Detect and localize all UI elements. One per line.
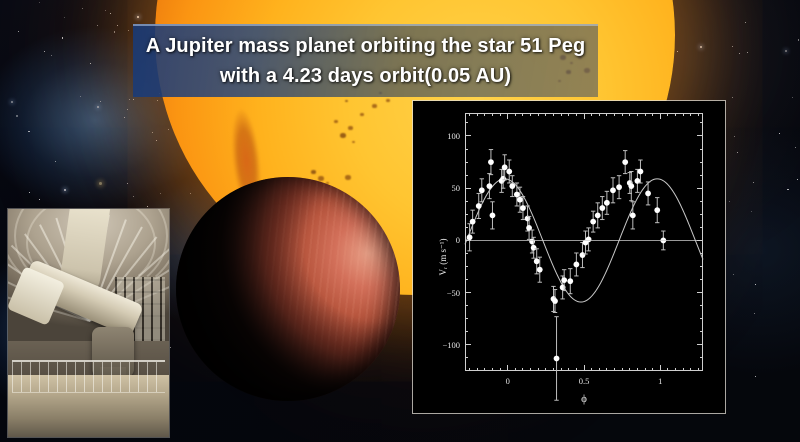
chart-x-minor-tick <box>530 368 531 371</box>
observatory-telescope-photo <box>8 209 169 437</box>
chart-data-point <box>573 253 579 276</box>
chart-y-tick <box>697 135 703 136</box>
chart-data-point <box>595 203 601 228</box>
chart-x-minor-tick <box>637 113 638 116</box>
chart-x-minor-tick <box>614 368 615 371</box>
chart-data-point <box>487 174 493 199</box>
chart-y-minor-tick <box>465 266 468 267</box>
chart-x-minor-tick <box>622 368 623 371</box>
chart-x-minor-tick <box>515 368 516 371</box>
chart-y-tick <box>697 188 703 189</box>
chart-y-tick-label: 0 <box>456 235 460 245</box>
chart-x-minor-tick <box>629 368 630 371</box>
chart-y-minor-tick <box>465 149 468 150</box>
chart-x-minor-tick <box>622 113 623 116</box>
chart-y-minor-tick <box>465 122 468 123</box>
radial-velocity-chart-panel: Vᵣ (m s⁻¹) ϕ 100500−50−10000.51 <box>413 101 725 413</box>
chart-x-minor-tick <box>652 368 653 371</box>
chart-x-minor-tick <box>683 113 684 116</box>
chart-x-minor-tick <box>561 368 562 371</box>
chart-y-minor-tick <box>465 318 468 319</box>
chart-data-point <box>490 202 496 229</box>
chart-x-minor-tick <box>614 113 615 116</box>
chart-x-minor-tick <box>484 368 485 371</box>
chart-x-minor-tick <box>492 368 493 371</box>
chart-data-point <box>630 202 636 229</box>
chart-x-minor-tick <box>652 113 653 116</box>
chart-x-minor-tick <box>591 368 592 371</box>
chart-data-point <box>604 191 610 214</box>
chart-x-minor-tick <box>538 368 539 371</box>
chart-y-tick <box>465 240 471 241</box>
chart-x-minor-tick <box>599 113 600 116</box>
chart-x-minor-tick <box>645 113 646 116</box>
chart-y-minor-tick <box>700 149 703 150</box>
chart-data-point <box>488 150 494 175</box>
chart-x-minor-tick <box>538 113 539 116</box>
chart-x-minor-tick <box>637 368 638 371</box>
chart-data-point <box>616 176 622 199</box>
starspot <box>340 133 346 138</box>
chart-y-tick-label: 50 <box>452 183 461 193</box>
chart-y-minor-tick <box>700 331 703 332</box>
chart-x-minor-tick <box>690 113 691 116</box>
chart-x-minor-tick <box>530 113 531 116</box>
chart-x-tick <box>584 365 585 371</box>
chart-x-minor-tick <box>576 368 577 371</box>
chart-data-point <box>622 151 628 174</box>
chart-y-minor-tick <box>465 305 468 306</box>
chart-y-tick <box>465 135 471 136</box>
chart-data-layer <box>465 113 703 371</box>
starspot <box>372 104 377 108</box>
chart-x-minor-tick <box>599 368 600 371</box>
chart-x-minor-tick <box>568 113 569 116</box>
chart-x-minor-tick <box>500 113 501 116</box>
chart-x-tick <box>507 113 508 119</box>
chart-y-minor-tick <box>465 253 468 254</box>
chart-data-point <box>654 198 660 223</box>
chart-y-minor-tick <box>700 253 703 254</box>
chart-y-minor-tick <box>465 175 468 176</box>
chart-x-axis-label: ϕ <box>465 393 703 405</box>
chart-y-tick-label: 100 <box>447 131 460 141</box>
chart-x-minor-tick <box>568 368 569 371</box>
chart-data-point <box>628 171 634 200</box>
chart-zero-line <box>465 240 703 241</box>
chart-x-minor-tick <box>683 368 684 371</box>
chart-y-minor-tick <box>465 357 468 358</box>
chart-y-minor-tick <box>700 279 703 280</box>
chart-x-minor-tick <box>667 368 668 371</box>
chart-data-point <box>567 269 573 294</box>
chart-y-minor-tick <box>465 214 468 215</box>
chart-x-minor-tick <box>561 113 562 116</box>
chart-y-minor-tick <box>700 201 703 202</box>
chart-x-minor-tick <box>500 368 501 371</box>
chart-y-minor-tick <box>465 201 468 202</box>
chart-x-minor-tick <box>553 368 554 371</box>
chart-x-minor-tick <box>553 113 554 116</box>
chart-y-minor-tick <box>465 279 468 280</box>
chart-data-point <box>479 179 485 202</box>
chart-y-minor-tick <box>700 122 703 123</box>
chart-y-tick <box>697 292 703 293</box>
chart-x-minor-tick <box>698 113 699 116</box>
chart-data-point <box>580 243 586 268</box>
chart-y-tick <box>465 188 471 189</box>
floor-railing <box>12 360 165 393</box>
chart-x-minor-tick <box>545 368 546 371</box>
title-line-1: A Jupiter mass planet orbiting the star … <box>146 31 586 61</box>
starspot <box>311 170 316 174</box>
chart-y-tick-label: −100 <box>442 340 460 350</box>
chart-x-minor-tick <box>477 113 478 116</box>
chart-x-minor-tick <box>477 368 478 371</box>
starspot <box>345 175 351 180</box>
chart-x-minor-tick <box>515 113 516 116</box>
chart-x-minor-tick <box>591 113 592 116</box>
title-plate: A Jupiter mass planet orbiting the star … <box>133 24 598 97</box>
chart-plot-area: 100500−50−10000.51 <box>465 113 703 371</box>
chart-x-tick <box>507 365 508 371</box>
chart-x-tick <box>584 113 585 119</box>
chart-x-tick <box>660 113 661 119</box>
chart-y-tick <box>697 344 703 345</box>
slide-canvas: A Jupiter mass planet orbiting the star … <box>0 0 800 442</box>
chart-y-tick <box>465 344 471 345</box>
chart-y-minor-tick <box>465 227 468 228</box>
chart-data-point <box>500 169 506 188</box>
chart-x-minor-tick <box>645 368 646 371</box>
starspot <box>318 176 324 181</box>
chart-y-minor-tick <box>700 266 703 267</box>
chart-x-minor-tick <box>484 113 485 116</box>
chart-x-minor-tick <box>492 113 493 116</box>
starspot <box>348 126 353 130</box>
chart-x-minor-tick <box>629 113 630 116</box>
chart-y-axis-label: Vᵣ (m s⁻¹) <box>438 238 449 275</box>
chart-x-minor-tick <box>606 368 607 371</box>
chart-y-minor-tick <box>700 175 703 176</box>
chart-x-tick-label: 1 <box>658 376 662 386</box>
chart-x-minor-tick <box>469 113 470 116</box>
chart-x-tick-label: 0.5 <box>579 376 590 386</box>
chart-x-minor-tick <box>675 368 676 371</box>
chart-data-point <box>610 178 616 203</box>
chart-y-tick-label: −50 <box>447 288 460 298</box>
title-line-2: with a 4.23 days orbit(0.05 AU) <box>220 61 511 91</box>
chart-x-minor-tick <box>576 113 577 116</box>
chart-x-minor-tick <box>675 113 676 116</box>
chart-y-tick <box>697 240 703 241</box>
chart-data-point <box>627 173 633 194</box>
chart-y-minor-tick <box>700 227 703 228</box>
chart-x-minor-tick <box>690 368 691 371</box>
chart-y-minor-tick <box>465 162 468 163</box>
chart-x-minor-tick <box>698 368 699 371</box>
chart-y-minor-tick <box>700 162 703 163</box>
chart-x-minor-tick <box>469 368 470 371</box>
chart-data-point <box>554 317 560 401</box>
chart-y-minor-tick <box>700 318 703 319</box>
chart-data-point <box>552 290 558 313</box>
chart-y-minor-tick <box>700 214 703 215</box>
chart-y-minor-tick <box>700 357 703 358</box>
chart-x-minor-tick <box>545 113 546 116</box>
chart-y-minor-tick <box>700 305 703 306</box>
chart-x-tick <box>660 365 661 371</box>
chart-x-minor-tick <box>606 113 607 116</box>
chart-y-minor-tick <box>465 331 468 332</box>
planet-terminator-shadow <box>176 177 400 401</box>
chart-x-minor-tick <box>667 113 668 116</box>
chart-x-minor-tick <box>522 113 523 116</box>
chart-x-minor-tick <box>522 368 523 371</box>
chart-x-tick-label: 0 <box>506 376 510 386</box>
chart-y-tick <box>465 292 471 293</box>
